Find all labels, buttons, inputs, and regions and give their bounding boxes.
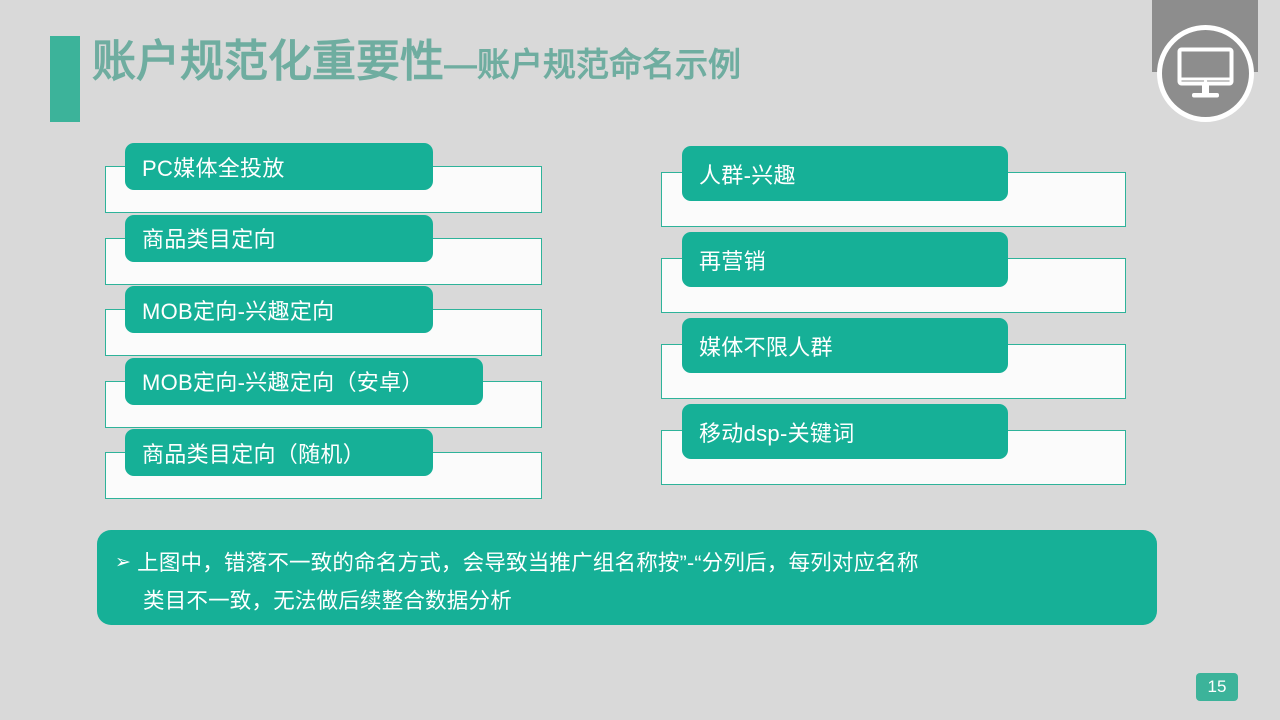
- left-box-label[interactable]: 商品类目定向（随机）: [125, 429, 433, 476]
- monitor-icon: [1177, 47, 1234, 100]
- left-box-label[interactable]: 商品类目定向: [125, 215, 433, 262]
- left-box-label[interactable]: MOB定向-兴趣定向（安卓）: [125, 358, 483, 405]
- left-box-label[interactable]: MOB定向-兴趣定向: [125, 286, 433, 333]
- right-box-label[interactable]: 媒体不限人群: [682, 318, 1008, 373]
- page-title-main: 账户规范化重要性: [92, 37, 444, 86]
- right-box-label[interactable]: 再营销: [682, 232, 1008, 287]
- summary-line-1-text: 上图中，错落不一致的命名方式，会导致当推广组名称按”-“分列后，每列对应名称: [137, 544, 919, 582]
- arrow-bullet-icon: ➢: [115, 544, 131, 582]
- right-box-label[interactable]: 人群-兴趣: [682, 146, 1008, 201]
- summary-line-2: 类目不一致，无法做后续整合数据分析: [115, 582, 1139, 620]
- page-title: 账户规范化重要性—账户规范命名示例: [92, 40, 741, 84]
- corner-emblem: [1157, 25, 1254, 122]
- title-accent-bar: [50, 36, 80, 122]
- page-number-text: 15: [1208, 677, 1227, 697]
- summary-banner: ➢ 上图中，错落不一致的命名方式，会导致当推广组名称按”-“分列后，每列对应名称…: [97, 530, 1157, 625]
- left-box-label[interactable]: PC媒体全投放: [125, 143, 433, 190]
- right-box-label[interactable]: 移动dsp-关键词: [682, 404, 1008, 459]
- summary-line-1: ➢ 上图中，错落不一致的命名方式，会导致当推广组名称按”-“分列后，每列对应名称: [115, 544, 1139, 582]
- page-title-sub: —账户规范命名示例: [444, 46, 741, 83]
- page-number-badge: 15: [1196, 673, 1238, 701]
